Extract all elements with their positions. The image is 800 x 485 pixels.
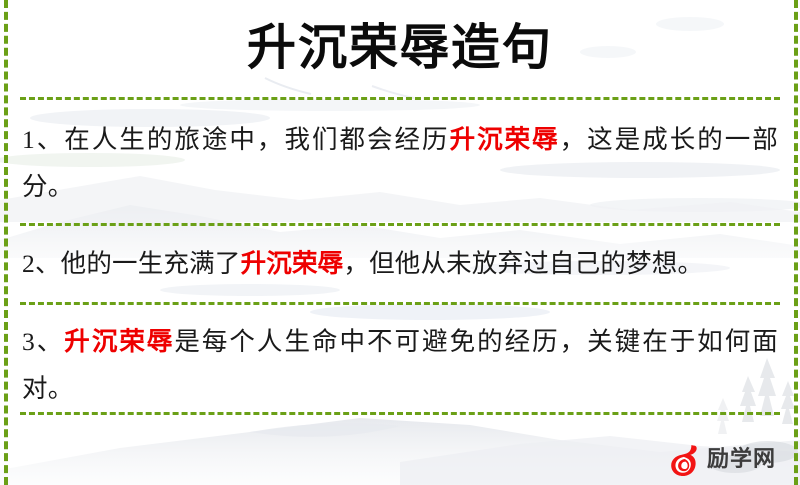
flame-swirl-icon bbox=[668, 443, 702, 477]
divider-after-sentence-2 bbox=[20, 302, 780, 305]
keyword-highlight-1: 升沉荣辱 bbox=[450, 125, 560, 154]
page-title: 升沉荣辱造句 bbox=[0, 14, 800, 80]
sentence-number-3: 3、 bbox=[22, 327, 64, 356]
sentence-text-before-1: 在人生的旅途中，我们都会经历 bbox=[64, 125, 449, 154]
sentence-item-1: 1、在人生的旅途中，我们都会经历升沉荣辱，这是成长的一部分。 bbox=[22, 116, 778, 210]
sentence-item-3: 3、升沉荣辱是每个人生命中不可避免的经历，关键在于如何面对。 bbox=[22, 318, 778, 412]
divider-after-sentence-3 bbox=[20, 412, 780, 415]
keyword-highlight-2: 升沉荣辱 bbox=[241, 249, 344, 278]
sentence-number-1: 1、 bbox=[22, 125, 64, 154]
sentence-text-before-2: 他的一生充满了 bbox=[61, 249, 241, 278]
sentence-number-2: 2、 bbox=[22, 249, 61, 278]
divider-after-sentence-1 bbox=[20, 223, 780, 226]
document-page: 升沉荣辱造句 1、在人生的旅途中，我们都会经历升沉荣辱，这是成长的一部分。 2、… bbox=[0, 0, 800, 485]
divider-below-title bbox=[20, 97, 780, 100]
sentence-text-after-2: ，但他从未放弃过自己的梦想。 bbox=[343, 249, 703, 278]
keyword-highlight-3: 升沉荣辱 bbox=[64, 327, 174, 356]
site-logo: 励学网 bbox=[668, 443, 776, 477]
sentence-item-2: 2、他的一生充满了升沉荣辱，但他从未放弃过自己的梦想。 bbox=[22, 240, 778, 287]
site-logo-text: 励学网 bbox=[707, 447, 776, 473]
